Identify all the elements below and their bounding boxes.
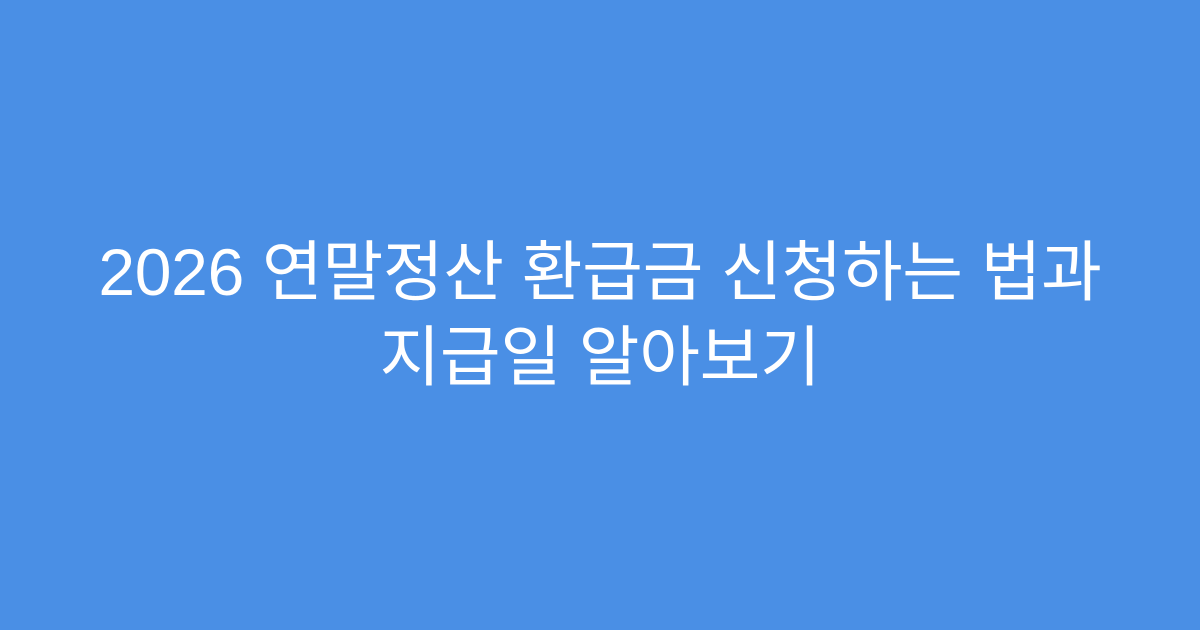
title-line-1: 2026 연말정산 환급금 신청하는 법과 <box>50 230 1150 315</box>
thumbnail-card: 2026 연말정산 환급금 신청하는 법과 지급일 알아보기 <box>0 0 1200 630</box>
title-line-2: 지급일 알아보기 <box>50 315 1150 400</box>
page-title: 2026 연말정산 환급금 신청하는 법과 지급일 알아보기 <box>50 230 1150 400</box>
